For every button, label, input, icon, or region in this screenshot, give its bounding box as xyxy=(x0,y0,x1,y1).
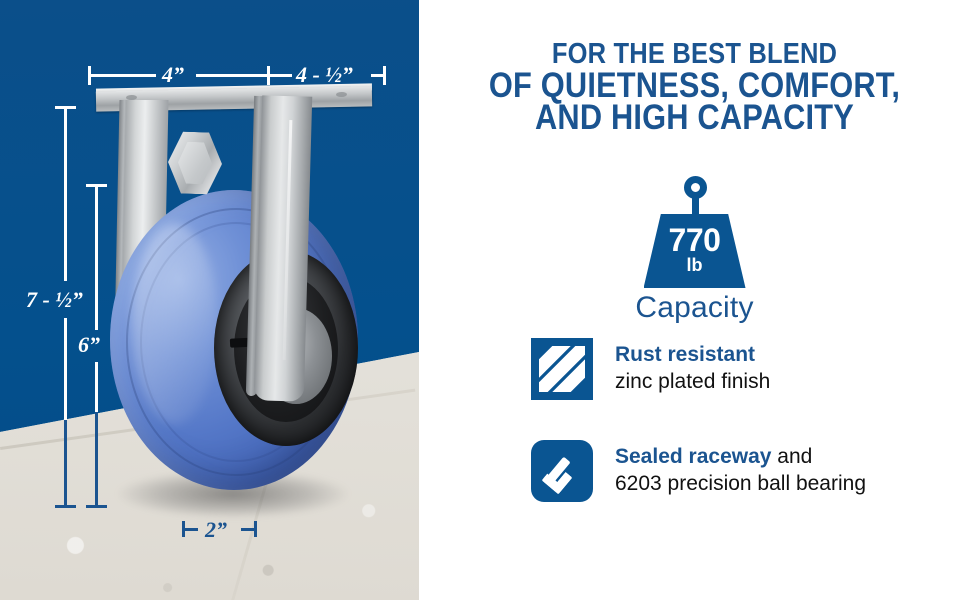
dim-tick-height-inner-bottom xyxy=(86,505,107,508)
feature-detail: 6203 precision ball bearing xyxy=(615,470,866,497)
dim-rule-height-inner-upper xyxy=(95,184,98,330)
info-panel: FOR THE BEST BLEND OF QUIETNESS, COMFORT… xyxy=(419,0,970,600)
dim-rule-width-left xyxy=(182,528,198,531)
dim-label-4in: 4” xyxy=(162,62,184,88)
dim-label-4-half-in: 4 - ½” xyxy=(296,62,353,88)
dim-rule-height-inner-lower-blue xyxy=(95,412,98,508)
dim-tick-top-right xyxy=(383,66,386,85)
dim-rule-height-inner-lower xyxy=(95,362,98,414)
tread-highlight xyxy=(132,224,218,424)
feature-detail: zinc plated finish xyxy=(615,368,770,395)
checkmark-icon-shape xyxy=(531,440,593,502)
capacity-label: Capacity xyxy=(419,291,970,325)
dim-rule-height-outer-upper xyxy=(64,106,67,281)
capacity-badge: 770 lb Capacity xyxy=(419,176,970,325)
checkmark-icon xyxy=(531,440,593,502)
dim-rule-top-left-b xyxy=(196,74,268,77)
feature-rust-resistant: Rust resistant zinc plated finish xyxy=(531,338,770,400)
caster-wheel xyxy=(110,190,358,490)
dim-label-2in: 2” xyxy=(205,517,227,543)
headline: FOR THE BEST BLEND OF QUIETNESS, COMFORT… xyxy=(452,38,937,134)
weight-icon: 770 lb xyxy=(630,176,760,288)
dim-label-6in: 6” xyxy=(78,332,100,358)
dim-rule-top-right-a xyxy=(270,74,292,77)
capacity-unit: lb xyxy=(630,255,760,276)
feature-text: Sealed raceway and 6203 precision ball b… xyxy=(615,440,866,497)
feature-title: Rust resistant xyxy=(615,343,755,366)
dim-rule-top-left-a xyxy=(88,74,156,77)
hatched-square-icon-shape xyxy=(531,338,593,400)
dim-tick-width-right xyxy=(254,521,257,537)
feature-text: Rust resistant zinc plated finish xyxy=(615,338,770,395)
product-photo: 4” 4 - ½” 7 - ½” 6” 2” xyxy=(0,0,419,600)
headline-line-3: AND HIGH CAPACITY xyxy=(452,102,937,134)
dim-rule-height-outer-lower-blue xyxy=(64,420,67,508)
hatched-square-icon xyxy=(531,338,593,400)
product-infographic: 4” 4 - ½” 7 - ½” 6” 2” FOR THE BEST BLEN… xyxy=(0,0,970,600)
dim-label-7-half-in: 7 - ½” xyxy=(26,287,83,313)
feature-sealed-raceway: Sealed raceway and 6203 precision ball b… xyxy=(531,440,866,502)
feature-title: Sealed raceway xyxy=(615,445,771,468)
dim-tick-height-outer-bottom xyxy=(55,505,76,508)
feature-title-suffix: and xyxy=(771,445,812,468)
capacity-value: 770 xyxy=(630,222,760,259)
